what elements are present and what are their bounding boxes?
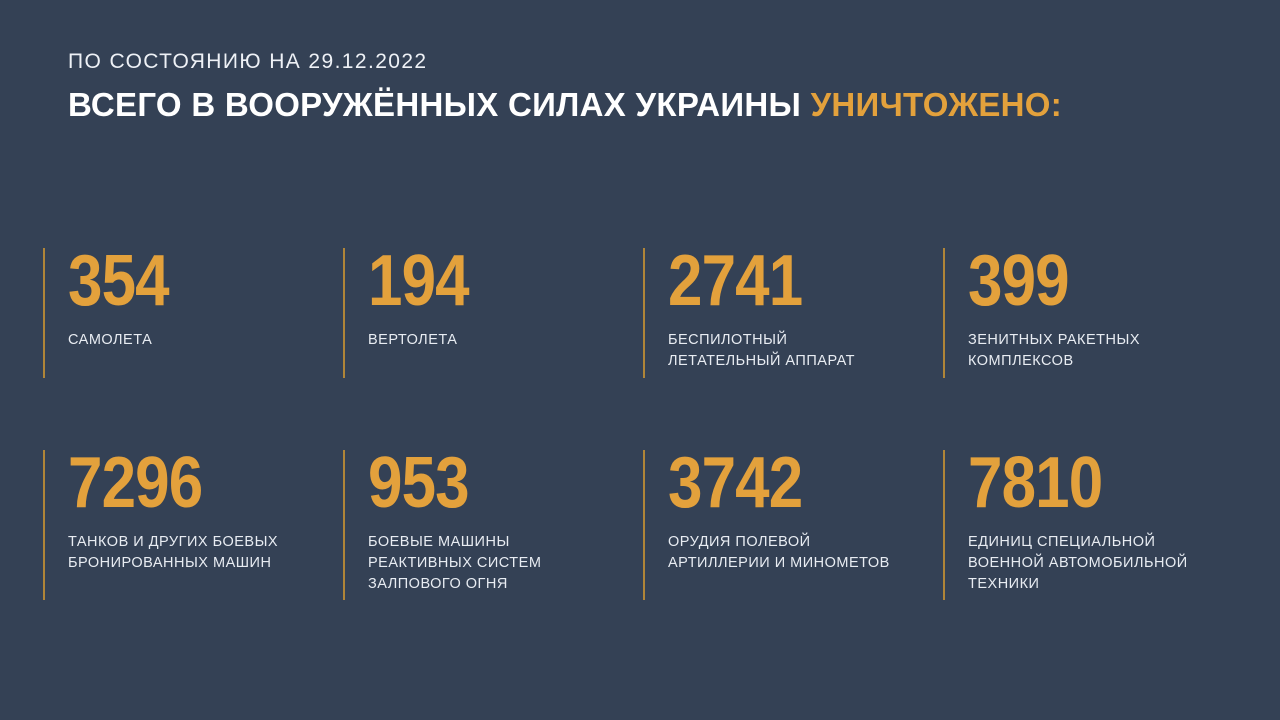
stat-label: ЕДИНИЦ СПЕЦИАЛЬНОЙ ВОЕННОЙ АВТОМОБИЛЬНОЙ… [968,532,1243,595]
stat-label: ТАНКОВ И ДРУГИХ БОЕВЫХ БРОНИРОВАННЫХ МАШ… [68,532,343,574]
stat-item-air-defence: 399 ЗЕНИТНЫХ РАКЕТНЫХ КОМПЛЕКСОВ [943,248,1243,372]
stat-item-artillery: 3742 ОРУДИЯ ПОЛЕВОЙ АРТИЛЛЕРИИ И МИНОМЕТ… [643,450,943,595]
headline-accent: УНИЧТОЖЕНО: [811,86,1062,123]
stat-item-mlrs: 953 БОЕВЫЕ МАШИНЫ РЕАКТИВНЫХ СИСТЕМ ЗАЛП… [343,450,643,595]
stat-item-military-vehicles: 7810 ЕДИНИЦ СПЕЦИАЛЬНОЙ ВОЕННОЙ АВТОМОБИ… [943,450,1243,595]
stat-value: 953 [368,450,605,516]
divider-line [943,248,945,378]
stat-label: ЗЕНИТНЫХ РАКЕТНЫХ КОМПЛЕКСОВ [968,330,1243,372]
stat-value: 3742 [668,450,905,516]
stat-value: 2741 [668,248,905,314]
stat-label: ВЕРТОЛЕТА [368,330,643,351]
stat-label: САМОЛЕТА [68,330,343,351]
divider-line [43,248,45,378]
stat-label: БОЕВЫЕ МАШИНЫ РЕАКТИВНЫХ СИСТЕМ ЗАЛПОВОГ… [368,532,643,595]
headline-main: ВСЕГО В ВООРУЖЁННЫХ СИЛАХ УКРАИНЫ [68,86,801,123]
stat-label: ОРУДИЯ ПОЛЕВОЙ АРТИЛЛЕРИИ И МИНОМЕТОВ [668,532,943,574]
divider-line [343,450,345,600]
stat-value: 7296 [68,450,305,516]
page-title: ВСЕГО В ВООРУЖЁННЫХ СИЛАХ УКРАИНЫ УНИЧТО… [68,87,1228,123]
divider-line [343,248,345,378]
stat-item-helicopters: 194 ВЕРТОЛЕТА [343,248,643,372]
stat-value: 194 [368,248,605,314]
stat-value: 399 [968,248,1205,314]
stat-value: 354 [68,248,305,314]
stat-item-aircraft: 354 САМОЛЕТА [43,248,343,372]
stat-row-1: 354 САМОЛЕТА 194 ВЕРТОЛЕТА 2741 БЕСПИЛОТ… [43,248,1243,372]
divider-line [643,450,645,600]
stat-label: БЕСПИЛОТНЫЙ ЛЕТАТЕЛЬНЫЙ АППАРАТ [668,330,943,372]
stat-item-tanks: 7296 ТАНКОВ И ДРУГИХ БОЕВЫХ БРОНИРОВАННЫ… [43,450,343,595]
divider-line [643,248,645,378]
header: ПО СОСТОЯНИЮ НА 29.12.2022 ВСЕГО В ВООРУ… [68,50,1228,123]
date-line: ПО СОСТОЯНИЮ НА 29.12.2022 [68,50,1228,73]
stat-row-2: 7296 ТАНКОВ И ДРУГИХ БОЕВЫХ БРОНИРОВАННЫ… [43,450,1243,595]
divider-line [43,450,45,600]
stat-value: 7810 [968,450,1205,516]
infographic-slide: ПО СОСТОЯНИЮ НА 29.12.2022 ВСЕГО В ВООРУ… [0,0,1280,720]
stat-item-uav: 2741 БЕСПИЛОТНЫЙ ЛЕТАТЕЛЬНЫЙ АППАРАТ [643,248,943,372]
divider-line [943,450,945,600]
